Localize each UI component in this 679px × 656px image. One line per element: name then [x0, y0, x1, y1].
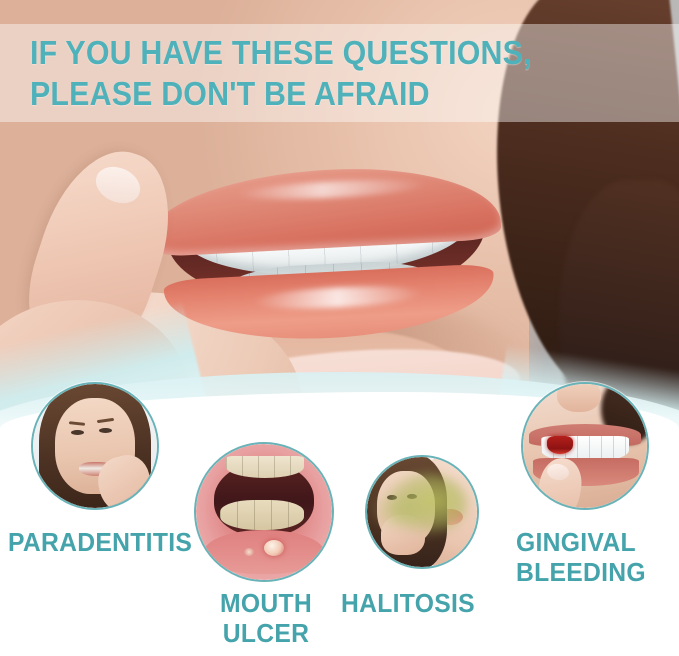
poster: IF YOU HAVE THESE QUESTIONS, PLEASE DON'… — [0, 0, 679, 656]
headline-banner: IF YOU HAVE THESE QUESTIONS, PLEASE DON'… — [0, 24, 679, 122]
paradentitis-photo — [33, 384, 157, 508]
condition-thumb-paradentitis[interactable] — [31, 382, 159, 510]
condition-thumb-halitosis[interactable] — [365, 455, 479, 569]
mouth-ulcer-lesion-small — [244, 548, 254, 556]
paradentitis-eye-left — [71, 430, 84, 435]
halitosis-photo — [367, 457, 477, 567]
mouth-ulcer-gum — [204, 530, 324, 574]
mouth-ulcer-photo — [196, 444, 332, 580]
gingival-bleeding-gum — [547, 436, 573, 454]
headline-line-2: PLEASE DON'T BE AFRAID — [30, 73, 627, 114]
condition-thumb-mouth-ulcer[interactable] — [194, 442, 334, 582]
mouth-ulcer-upper-teeth — [226, 456, 304, 478]
halitosis-breath-cloud-secondary — [371, 491, 431, 531]
headline-line-1: IF YOU HAVE THESE QUESTIONS, — [30, 32, 627, 73]
gingival-nose — [557, 384, 601, 412]
hero-smiling-mouth — [146, 151, 507, 349]
mouth-ulcer-lesion — [264, 540, 284, 556]
condition-label-paradentitis: PARADENTITIS — [8, 527, 192, 557]
condition-label-halitosis: HALITOSIS — [341, 588, 475, 618]
condition-thumb-gingival-bleeding[interactable] — [521, 382, 649, 510]
condition-label-mouth-ulcer: MOUTH ULCER — [200, 588, 333, 648]
paradentitis-eye-right — [99, 428, 112, 433]
gingival-bleeding-photo — [523, 384, 647, 508]
mouth-ulcer-lower-teeth — [220, 500, 304, 530]
condition-label-gingival-bleeding: GINGIVAL BLEEDING — [516, 527, 646, 587]
